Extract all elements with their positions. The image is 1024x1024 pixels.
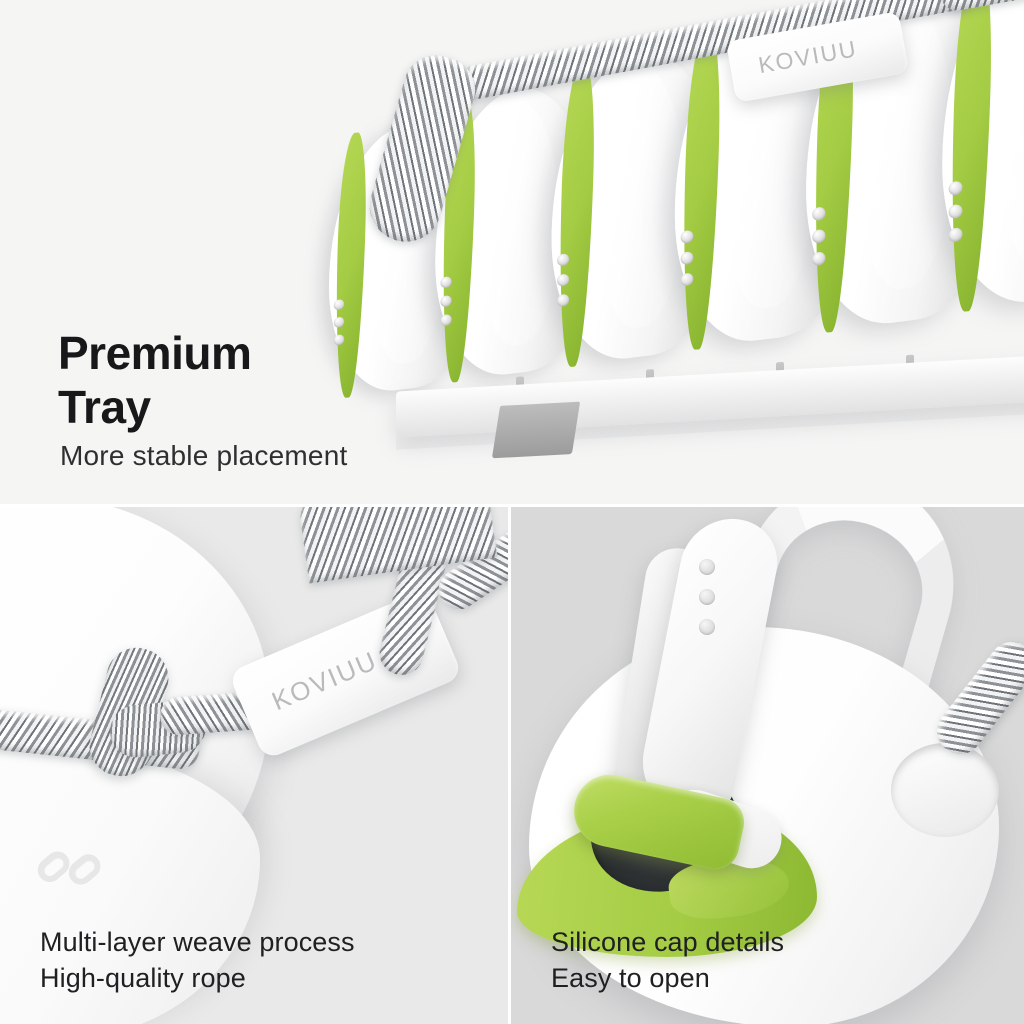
product-feature-infographic: KOVIUU Premium Tray More stable placemen…: [0, 0, 1024, 1024]
caption-rope: Multi-layer weave process High-quality r…: [40, 925, 355, 997]
green-accent-stripe: [332, 132, 368, 399]
grip-nubs: [440, 274, 466, 337]
brand-logo-text: KOVIUU: [756, 35, 859, 79]
rope-socket: [891, 743, 999, 837]
gloss-highlight: [596, 61, 684, 333]
panel-premium-tray: KOVIUU Premium Tray More stable placemen…: [0, 0, 1024, 504]
headline-line-1: Premium: [58, 327, 251, 379]
grip-nubs: [681, 228, 710, 299]
green-accent-stripe: [556, 61, 598, 368]
caption-silicone-cap: Silicone cap details Easy to open: [551, 925, 784, 997]
flap-grip-dots: [699, 559, 725, 669]
grip-nubs: [334, 297, 358, 356]
gloss-highlight: [477, 96, 560, 350]
gloss-highlight: [993, 0, 1024, 272]
page-title: Premium Tray: [58, 326, 251, 435]
grip-nubs: [557, 251, 585, 319]
tray-product-illustration: KOVIUU: [300, 0, 1024, 480]
panel-silicone-cap: Silicone cap details Easy to open: [511, 507, 1024, 1024]
page-subtitle: More stable placement: [60, 440, 347, 472]
headline-line-2: Tray: [58, 380, 251, 434]
grip-nubs: [949, 178, 981, 256]
brand-logo-text: KOVIUU: [267, 645, 382, 717]
tray-foot: [492, 402, 580, 459]
panel-rope-weave: KOVIUU Multi-layer weave process High-qu…: [0, 507, 508, 1024]
grip-nubs: [812, 204, 843, 279]
